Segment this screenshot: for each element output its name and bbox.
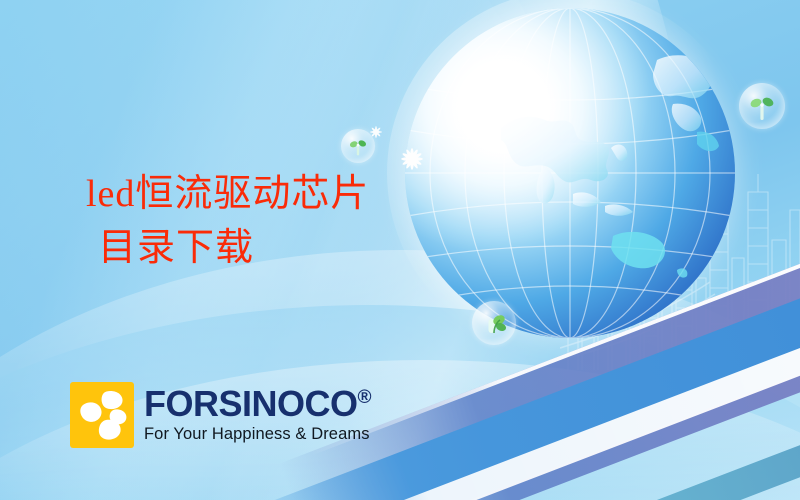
flower-large-icon bbox=[399, 146, 425, 172]
headline-line-1: led恒流驱动芯片 bbox=[86, 173, 369, 215]
bubble-pinwheel-top-icon bbox=[341, 129, 375, 163]
brand-logo: FORSINOCO® For Your Happiness & Dreams bbox=[70, 382, 371, 448]
brand-name-text: FORSINOCO bbox=[144, 383, 358, 424]
forsinoco-pinwheel-mark-icon bbox=[70, 382, 134, 448]
headline-line-2: 目录下载 bbox=[86, 222, 369, 276]
globe-highlight bbox=[405, 8, 735, 338]
globe-sphere bbox=[405, 8, 735, 338]
brand-tagline: For Your Happiness & Dreams bbox=[144, 425, 371, 444]
registered-trademark-icon: ® bbox=[358, 387, 372, 408]
promo-banner: led恒流驱动芯片 目录下载 FORSINOCO® For Your Happi… bbox=[0, 0, 800, 500]
world-globe bbox=[405, 8, 735, 338]
headline-text: led恒流驱动芯片 目录下载 bbox=[86, 168, 369, 276]
brand-name: FORSINOCO® bbox=[144, 386, 371, 422]
bubble-sprout-center-icon bbox=[472, 301, 516, 345]
brand-text-block: FORSINOCO® For Your Happiness & Dreams bbox=[144, 386, 371, 444]
bubble-pinwheel-right-icon bbox=[739, 83, 785, 129]
